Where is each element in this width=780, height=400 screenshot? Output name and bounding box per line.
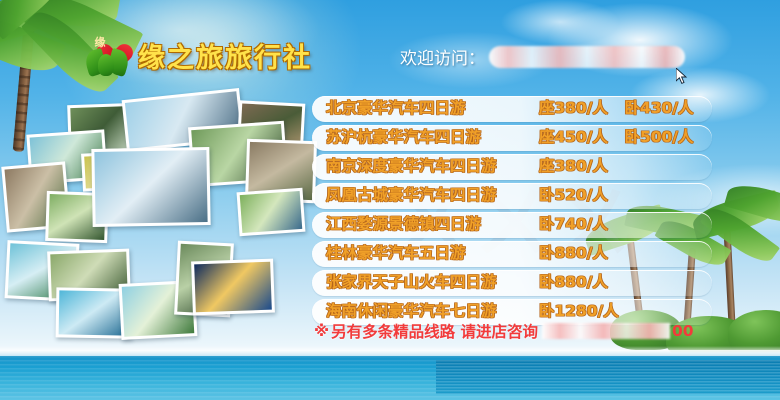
tour-price-row[interactable]: 凤凰古城豪华汽车四日游卧520/人 — [312, 183, 712, 209]
redacted-website-url — [489, 46, 685, 68]
tour-price-primary: 座380/人 — [539, 159, 625, 175]
tour-route-name: 江西婺源景德镇四日游 — [326, 217, 539, 233]
welcome-block: 欢迎访问： — [400, 44, 685, 69]
photo-image — [94, 150, 207, 224]
tour-route-name: 张家界天子山火车四日游 — [326, 275, 539, 291]
tour-route-name: 桂林豪华汽车五日游 — [326, 246, 539, 262]
tour-price-row[interactable]: 苏沪杭豪华汽车四日游座450/人卧500/人 — [312, 125, 712, 151]
tour-price-primary: 卧740/人 — [539, 217, 625, 233]
phone-number-tail: 00 — [672, 322, 694, 340]
tour-price-primary: 卧880/人 — [539, 246, 625, 262]
photo-shanghai-night — [191, 259, 275, 316]
tour-price-primary: 卧1280/人 — [539, 304, 625, 320]
tour-route-name: 南京深度豪华汽车四日游 — [326, 159, 539, 175]
mouse-cursor-icon — [676, 68, 688, 85]
tour-route-name: 海南休闲豪华汽车七日游 — [326, 304, 539, 320]
tour-price-secondary: 卧500/人 — [624, 130, 712, 146]
travel-photo-collage — [0, 92, 320, 360]
tour-price-list: 北京豪华汽车四日游座380/人卧430/人苏沪杭豪华汽车四日游座450/人卧50… — [312, 96, 712, 328]
tour-price-primary: 卧880/人 — [539, 275, 625, 291]
heart-in-hands-logo-icon: 缘 — [84, 32, 130, 78]
logo-heart-character: 缘 — [84, 37, 116, 48]
tour-route-name: 苏沪杭豪华汽车四日游 — [326, 130, 539, 146]
tour-price-primary: 座450/人 — [539, 130, 625, 146]
leaf-icon-center — [98, 54, 114, 76]
tour-price-row[interactable]: 江西婺源景德镇四日游卧740/人 — [312, 212, 712, 238]
photo-image — [194, 262, 272, 313]
photo-image — [240, 191, 303, 233]
tour-price-row[interactable]: 桂林豪华汽车五日游卧880/人 — [312, 241, 712, 267]
welcome-label: 欢迎访问： — [400, 44, 485, 69]
brand-logo-block: 缘 缘之旅旅行社 — [84, 32, 312, 78]
poster-header: 缘 缘之旅旅行社 欢迎访问： — [0, 0, 780, 92]
photo-lake-bridge-main — [91, 147, 210, 227]
tour-price-primary: 卧520/人 — [539, 188, 625, 204]
tour-route-name: 凤凰古城豪华汽车四日游 — [326, 188, 539, 204]
tour-price-secondary: 卧430/人 — [624, 101, 712, 117]
photo-riverbank — [237, 188, 306, 236]
tour-price-primary: 座380/人 — [539, 101, 625, 117]
redacted-phone-number — [542, 323, 670, 339]
tour-route-name: 北京豪华汽车四日游 — [326, 101, 539, 117]
travel-agency-poster: 缘 缘之旅旅行社 欢迎访问： ㄨㄨㄨ 北京豪华汽车四日游座380/人卧430/人… — [0, 0, 780, 400]
tour-price-row[interactable]: 北京豪华汽车四日游座380/人卧430/人 — [312, 96, 712, 122]
tour-price-row[interactable]: 南京深度豪华汽车四日游座380/人 — [312, 154, 712, 180]
ocean-deep-water — [436, 360, 780, 394]
tour-price-row[interactable]: 张家界天子山火车四日游卧880/人 — [312, 270, 712, 296]
footnote-marker: ※ — [314, 322, 329, 340]
brand-name: 缘之旅旅行社 — [138, 36, 312, 75]
footnote-text: 另有多条精品线路 请进店咨询 — [331, 320, 538, 342]
footnote: ※ 另有多条精品线路 请进店咨询 00 — [314, 320, 694, 342]
